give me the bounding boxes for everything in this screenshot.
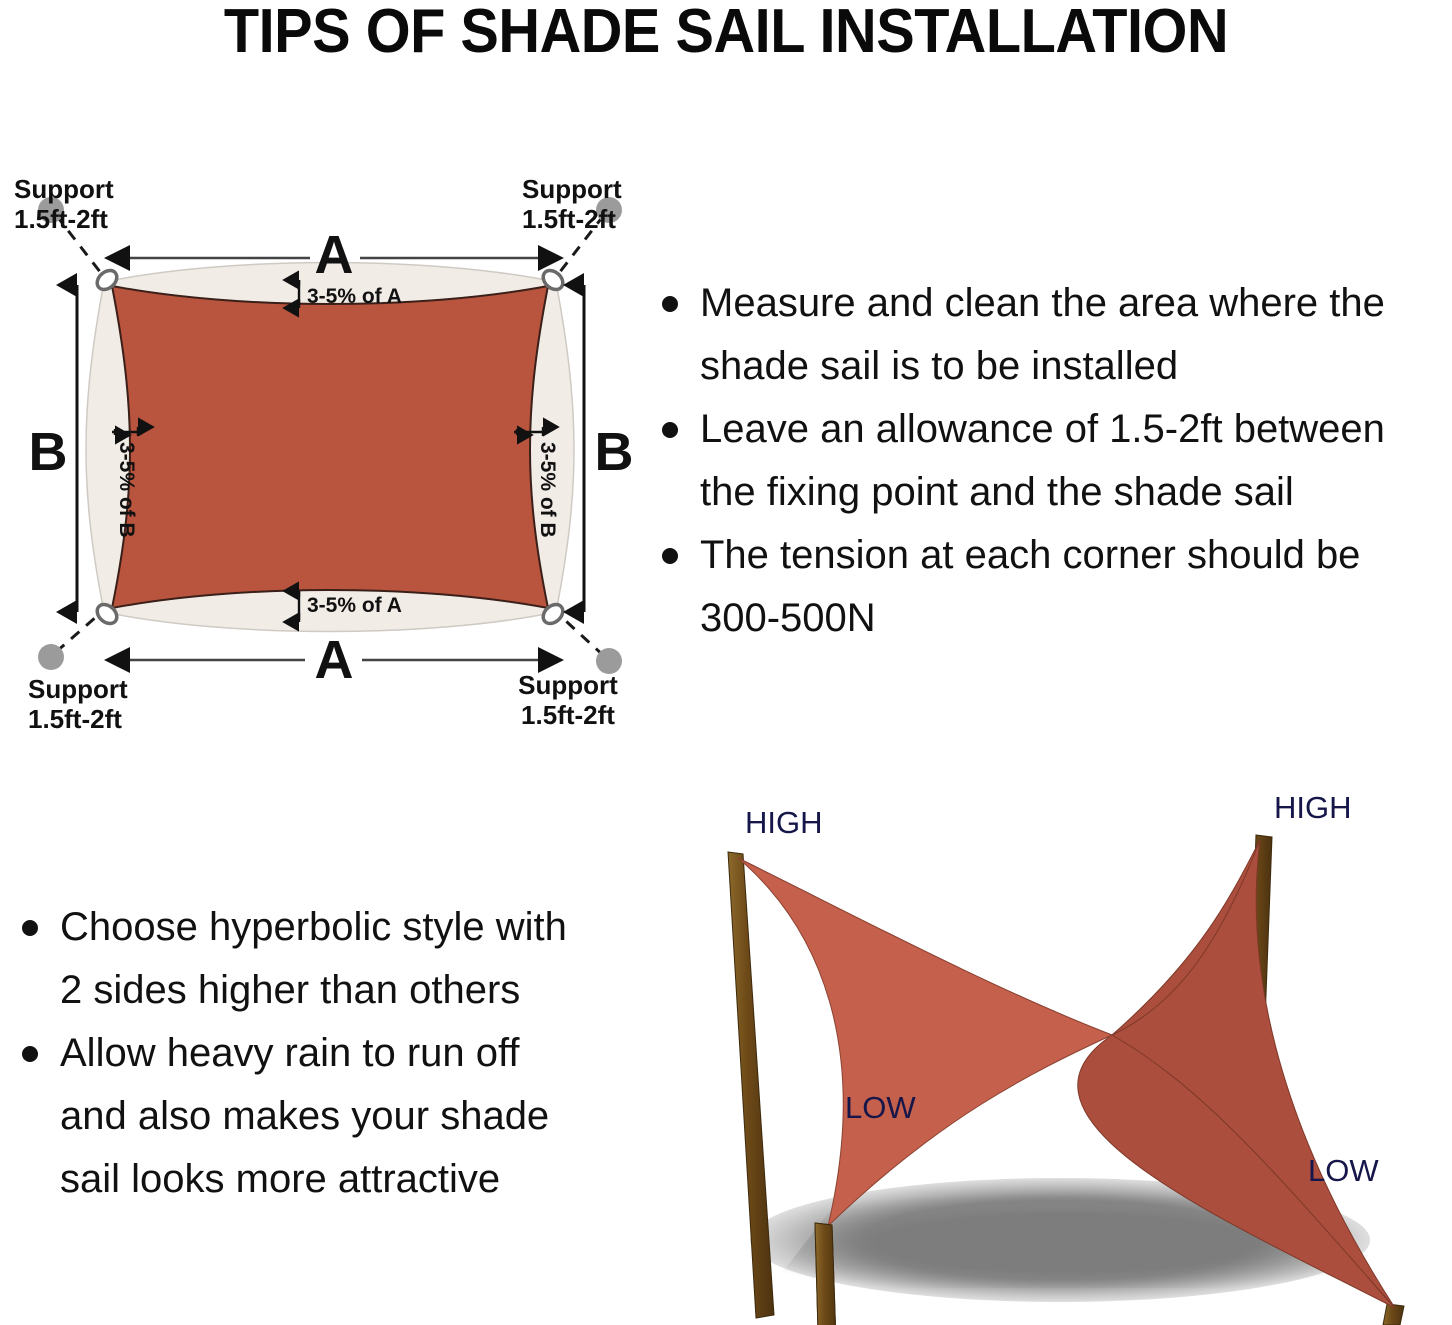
rectangular-sail-diagram: A A B B <box>0 160 660 740</box>
tip-line: The tension at each corner should be <box>700 533 1360 577</box>
dimension-label-b-right: B <box>595 422 634 482</box>
tip-line: Measure and clean the area where the <box>700 281 1385 325</box>
support-label-top-right-line2: 1.5ft-2ft <box>522 204 616 234</box>
installation-tips-list-left: Choose hyperbolic style with 2 sides hig… <box>0 896 620 1211</box>
curve-callout-right-label: 3-5% of B <box>536 442 559 538</box>
support-label-bottom-left-line1: Support <box>28 674 128 704</box>
tip-line: and also makes your shade <box>60 1094 549 1138</box>
infographic-page: TIPS OF SHADE SAIL INSTALLATION <box>0 0 1452 1325</box>
tip-line: 2 sides higher than others <box>60 968 520 1012</box>
sail-surface-front <box>738 858 1112 1226</box>
label-low-right: LOW <box>1308 1153 1379 1188</box>
support-label-top-left-line1: Support <box>14 174 114 204</box>
curve-callout-bottom-label: 3-5% of A <box>307 594 402 617</box>
installation-tips-list-right: Measure and clean the area where the sha… <box>640 272 1452 650</box>
dimension-label-b-left: B <box>29 422 68 482</box>
tip-line: sail looks more attractive <box>60 1157 500 1201</box>
tip-line: Leave an allowance of 1.5-2ft between <box>700 407 1385 451</box>
shade-sail-fabric <box>112 286 548 608</box>
tip-line: shade sail is to be installed <box>700 344 1178 388</box>
hyperbolic-sail-diagram: HIGH HIGH LOW LOW <box>660 788 1452 1325</box>
support-label-bottom-right-line1: Support <box>518 670 618 700</box>
label-high-right: HIGH <box>1274 790 1352 825</box>
tip-hyperbolic-style: Choose hyperbolic style with 2 sides hig… <box>0 896 620 1022</box>
tip-line: the fixing point and the shade sail <box>700 470 1294 514</box>
support-label-top-left-line2: 1.5ft-2ft <box>14 204 108 234</box>
curve-callout-left-label: 3-5% of B <box>115 442 138 538</box>
page-title: TIPS OF SHADE SAIL INSTALLATION <box>51 0 1401 67</box>
support-label-top-right-line1: Support <box>522 174 622 204</box>
support-label-bottom-left-line2: 1.5ft-2ft <box>28 704 122 734</box>
label-low-left: LOW <box>845 1090 916 1125</box>
tip-measure-clean: Measure and clean the area where the sha… <box>640 272 1452 398</box>
curve-callout-top-label: 3-5% of A <box>307 285 402 308</box>
pole-high-left <box>728 852 774 1318</box>
tip-line: 300-500N <box>700 596 876 640</box>
tip-rain-runoff: Allow heavy rain to run off and also mak… <box>0 1022 620 1211</box>
label-high-left: HIGH <box>745 805 823 840</box>
tip-tension: The tension at each corner should be 300… <box>640 524 1452 650</box>
tip-allowance: Leave an allowance of 1.5-2ft between th… <box>640 398 1452 524</box>
tip-line: Choose hyperbolic style with <box>60 905 567 949</box>
tip-line: Allow heavy rain to run off <box>60 1031 520 1075</box>
support-label-bottom-right-line2: 1.5ft-2ft <box>521 700 615 730</box>
dimension-label-a-bottom: A <box>315 630 354 690</box>
dimension-label-a-top: A <box>315 225 354 285</box>
